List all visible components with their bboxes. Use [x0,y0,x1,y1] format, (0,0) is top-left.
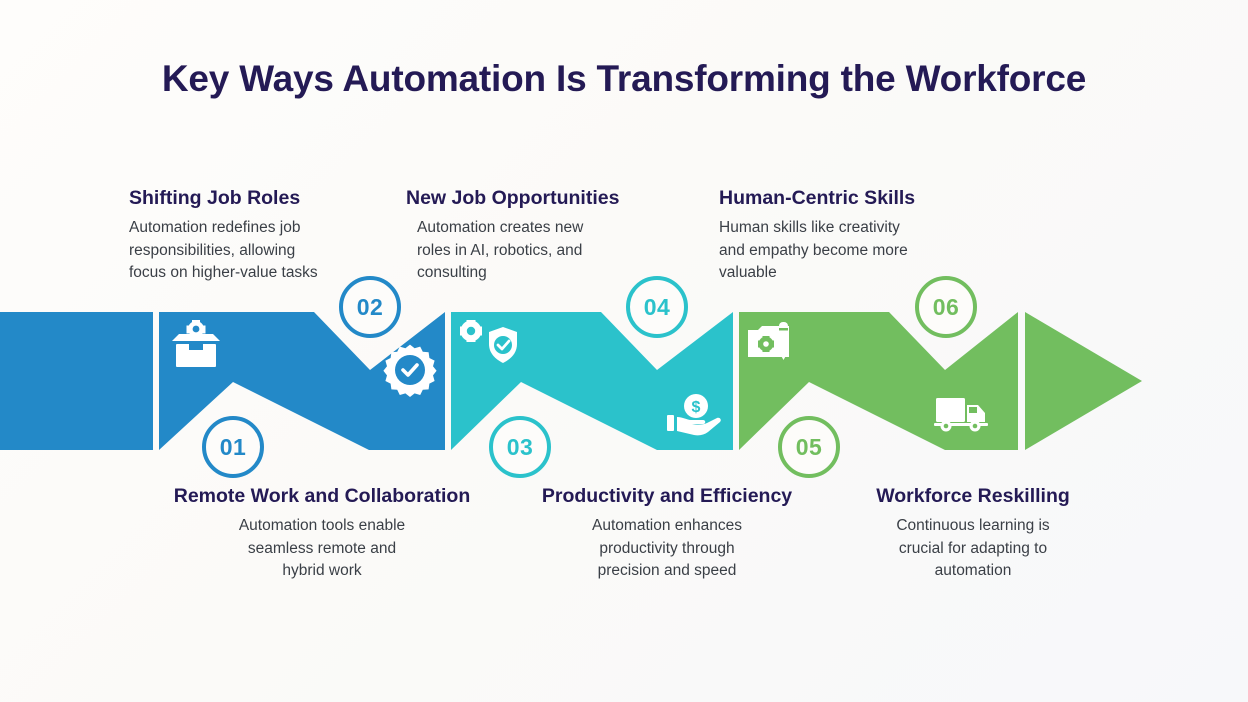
step-body-02: Automation redefines job responsibilitie… [129,217,389,284]
svg-text:$: $ [692,399,701,416]
step-heading-01: Remote Work and Collaboration [152,484,492,508]
step-body-01: Automation tools enable seamless remote … [152,515,492,582]
step-badge-04-label: 04 [644,294,671,321]
ribbon-segment-start [0,312,153,450]
step-body-04-line-3: consulting [417,262,658,284]
step-badge-04[interactable]: 04 [626,276,688,338]
step-body-02-line-3: focus on higher-value tasks [129,262,389,284]
step-badge-06[interactable]: 06 [915,276,977,338]
step-text-new-job-opportunities: New Job Opportunities Automation creates… [406,186,658,284]
hand-money-icon: $ [667,394,721,435]
step-body-03-line-2: productivity through [520,538,814,560]
step-text-shifting-job-roles: Shifting Job Roles Automation redefines … [129,186,389,284]
step-body-05-line-2: crucial for adapting to [832,538,1114,560]
step-badge-01-label: 01 [220,434,247,461]
step-body-02-line-1: Automation redefines job [129,217,389,239]
step-body-02-line-2: responsibilities, allowing [129,240,389,262]
infographic-canvas: Key Ways Automation Is Transforming the … [0,0,1248,702]
step-heading-03: Productivity and Efficiency [520,484,814,508]
step-body-01-line-3: hybrid work [152,560,492,582]
step-text-productivity-and-efficiency: Productivity and Efficiency Automation e… [520,484,814,582]
step-badge-02-label: 02 [357,294,384,321]
ribbon-arrow-head [1025,312,1142,450]
step-badge-01[interactable]: 01 [202,416,264,478]
step-text-remote-work-and-collaboration: Remote Work and Collaboration Automation… [152,484,492,582]
step-body-04-line-1: Automation creates new [417,217,658,239]
step-body-06-line-2: and empathy become more [719,240,971,262]
step-body-06-line-3: valuable [719,262,971,284]
step-heading-06: Human-Centric Skills [719,186,971,210]
step-badge-03[interactable]: 03 [489,416,551,478]
step-body-05-line-3: automation [832,560,1114,582]
process-ribbon: $ [0,0,1248,702]
step-body-06-line-1: Human skills like creativity [719,217,971,239]
step-body-01-line-1: Automation tools enable [152,515,492,537]
step-badge-05-label: 05 [796,434,823,461]
step-body-04: Automation creates new roles in AI, robo… [406,217,658,284]
step-badge-03-label: 03 [507,434,534,461]
package-gear-icon [172,320,220,367]
step-heading-04: New Job Opportunities [406,186,658,210]
step-body-05: Continuous learning is crucial for adapt… [832,515,1114,582]
step-text-human-centric-skills: Human-Centric Skills Human skills like c… [719,186,971,284]
badge-check-icon [383,345,436,397]
step-badge-06-label: 06 [933,294,960,321]
step-heading-02: Shifting Job Roles [129,186,389,210]
step-badge-05[interactable]: 05 [778,416,840,478]
step-body-03-line-1: Automation enhances [520,515,814,537]
delivery-truck-icon [934,398,988,432]
ribbon-segment-3 [739,312,1018,450]
page-title: Key Ways Automation Is Transforming the … [0,58,1248,100]
step-body-03-line-3: precision and speed [520,560,814,582]
step-body-03: Automation enhances productivity through… [520,515,814,582]
step-heading-05: Workforce Reskilling [832,484,1114,508]
step-text-workforce-reskilling: Workforce Reskilling Continuous learning… [832,484,1114,582]
step-body-05-line-1: Continuous learning is [832,515,1114,537]
step-badge-02[interactable]: 02 [339,276,401,338]
step-body-06: Human skills like creativity and empathy… [719,217,971,284]
step-body-04-line-2: roles in AI, robotics, and [417,240,658,262]
ribbon-segment-1 [159,312,445,450]
step-body-01-line-2: seamless remote and [152,538,492,560]
shield-gear-icon [460,320,517,363]
document-pen-gear-icon [748,322,789,360]
